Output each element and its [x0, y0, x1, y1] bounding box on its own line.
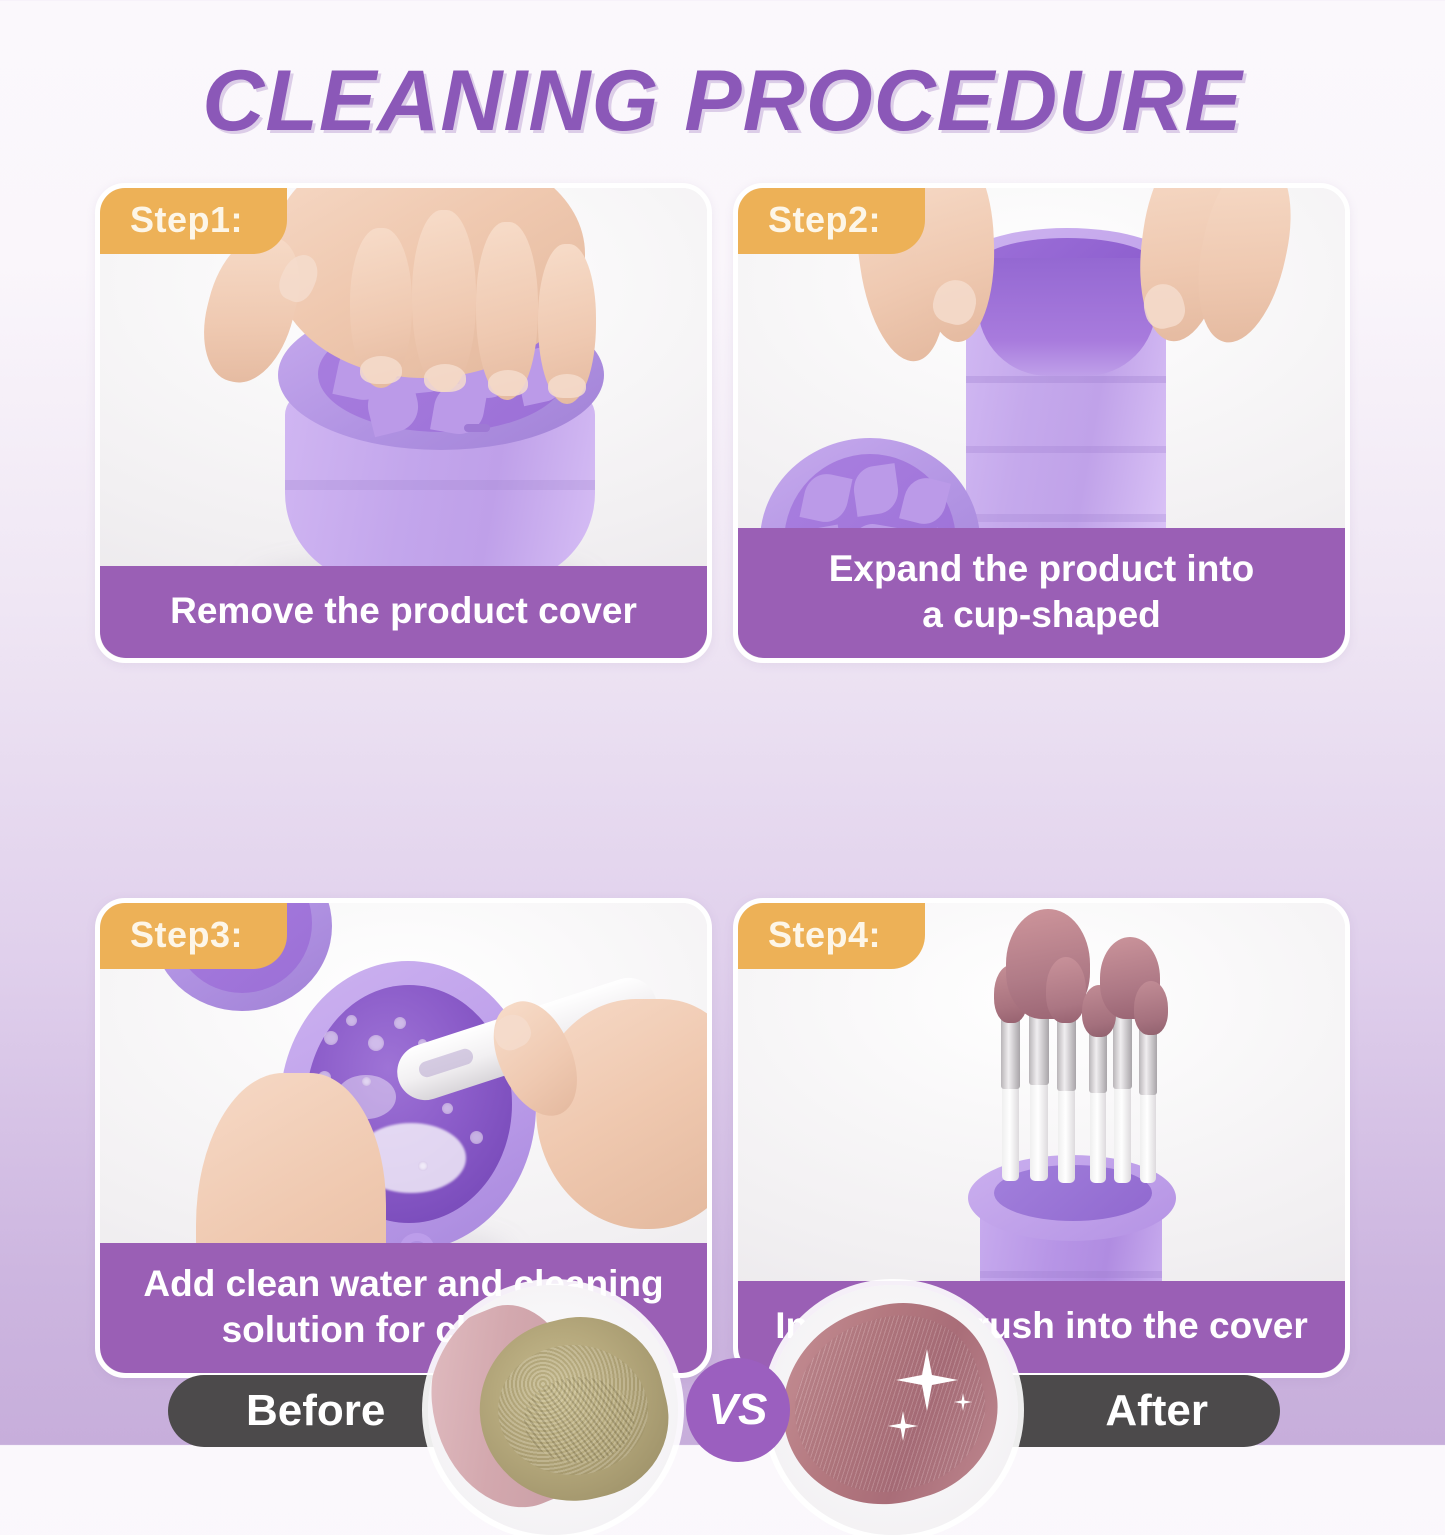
step-badge-4: Step4:	[738, 903, 925, 969]
step-card-1: Step1: Remove the product cover	[95, 183, 712, 663]
step-badge-2: Step2:	[738, 188, 925, 254]
step-caption-2-line-2: a cup-shaped	[752, 592, 1331, 638]
after-brush-photo	[768, 1285, 1018, 1535]
step-badge-3: Step3:	[100, 903, 287, 969]
step-caption-2-line-1: Expand the product into	[752, 546, 1331, 592]
before-after-comparison: Before After VS	[0, 640, 1445, 900]
step-badge-1: Step1:	[100, 188, 287, 254]
page-title: CLEANING PROCEDURE	[0, 52, 1445, 151]
before-label-text: Before	[246, 1389, 385, 1433]
step-caption-2: Expand the product into a cup-shaped	[738, 528, 1345, 658]
before-brush-photo	[428, 1285, 678, 1535]
vs-label-text: VS	[709, 1385, 768, 1435]
step-card-2: Step2: Expand the product into a cup-sha…	[733, 183, 1350, 663]
after-label-text: After	[1105, 1389, 1208, 1433]
page-header: CLEANING PROCEDURE	[0, 52, 1445, 151]
vs-badge: VS	[686, 1358, 790, 1462]
